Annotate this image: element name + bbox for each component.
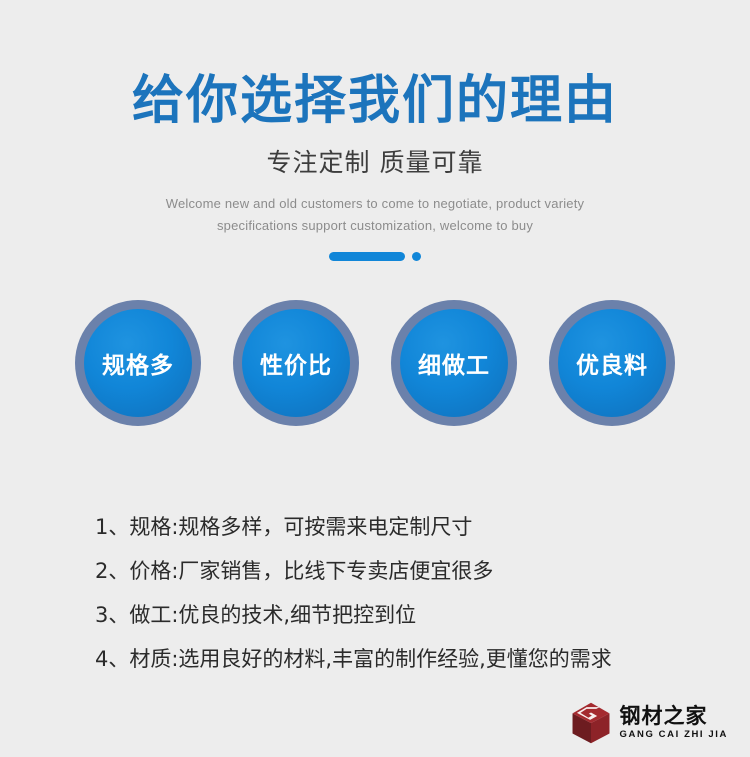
divider <box>0 252 750 261</box>
feature-circle-1-inner: 规格多 <box>84 309 192 417</box>
brand-logo: 钢材之家 GANG CAI ZHI JIA <box>569 701 728 745</box>
feature-circle-1-label: 规格多 <box>102 346 174 380</box>
divider-dot-icon <box>412 252 421 261</box>
feature-circle-2-inner: 性价比 <box>242 309 350 417</box>
feature-list: 1、规格:规格多样，可按需来电定制尺寸 2、价格:厂家销售，比线下专卖店便宜很多… <box>95 505 715 681</box>
divider-bar-icon <box>329 252 405 261</box>
feature-list-item-4: 4、材质:选用良好的材料,丰富的制作经验,更懂您的需求 <box>95 637 715 681</box>
feature-circle-2-label: 性价比 <box>260 346 332 380</box>
feature-circle-4: 优良料 <box>549 300 675 426</box>
feature-list-item-3: 3、做工:优良的技术,细节把控到位 <box>95 593 715 637</box>
feature-list-item-1: 1、规格:规格多样，可按需来电定制尺寸 <box>95 505 715 549</box>
cube-logo-icon <box>569 701 613 745</box>
feature-circle-4-label: 优良料 <box>576 346 648 380</box>
english-tagline-line-2: specifications support customization, we… <box>0 215 750 237</box>
feature-circle-4-inner: 优良料 <box>558 309 666 417</box>
feature-circles: 规格多 性价比 细做工 优良料 <box>0 300 750 426</box>
feature-circle-3-label: 细做工 <box>418 346 490 380</box>
english-tagline: Welcome new and old customers to come to… <box>0 179 750 237</box>
page-subtitle: 专注定制 质量可靠 <box>0 129 750 179</box>
feature-circle-2: 性价比 <box>233 300 359 426</box>
feature-circle-1: 规格多 <box>75 300 201 426</box>
page-title: 给你选择我们的理由 <box>0 0 750 129</box>
english-tagline-line-1: Welcome new and old customers to come to… <box>0 193 750 215</box>
promo-page: 给你选择我们的理由 专注定制 质量可靠 Welcome new and old … <box>0 0 750 757</box>
brand-name-en: GANG CAI ZHI JIA <box>620 730 728 740</box>
feature-circle-3-inner: 细做工 <box>400 309 508 417</box>
feature-circle-3: 细做工 <box>391 300 517 426</box>
brand-name-cn: 钢材之家 <box>620 706 708 727</box>
feature-list-item-2: 2、价格:厂家销售，比线下专卖店便宜很多 <box>95 549 715 593</box>
header: 给你选择我们的理由 专注定制 质量可靠 Welcome new and old … <box>0 0 750 237</box>
brand-logo-text: 钢材之家 GANG CAI ZHI JIA <box>620 706 728 740</box>
